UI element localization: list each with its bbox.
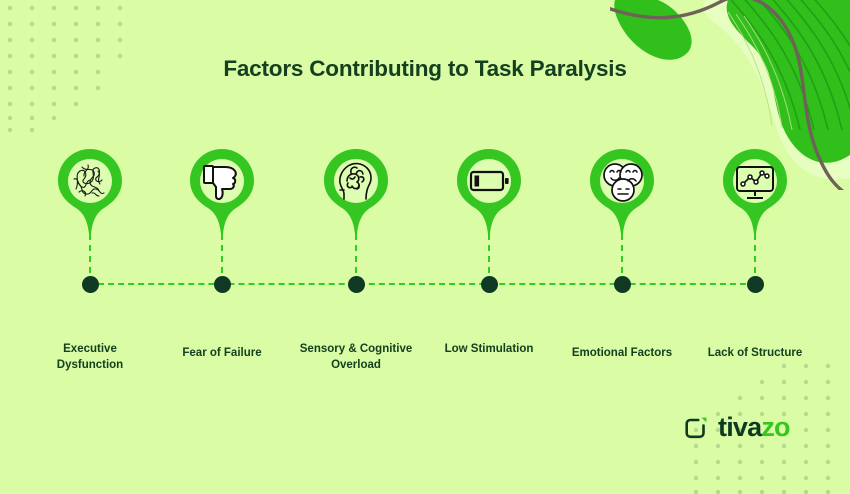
timeline-item-label: Lack of Structure [680,346,830,362]
tangled-scribble-icon [68,159,112,203]
timeline-item-label: Emotional Factors [547,346,697,362]
monitor-chart-icon [733,159,777,203]
map-pin-marker[interactable] [56,148,124,236]
timeline-node-dot[interactable] [214,276,231,293]
timeline-item[interactable]: Sensory & CognitiveOverload [291,0,421,494]
timeline-node-dot[interactable] [481,276,498,293]
logo-text-accent: zo [761,412,789,442]
timeline-item-label-line2: Dysfunction [15,358,165,374]
timeline-node-dot[interactable] [82,276,99,293]
timeline-item[interactable]: Emotional Factors [557,0,687,494]
timeline-item-label-line1: Fear of Failure [147,346,297,362]
logo-wordmark: tivazo [718,414,790,441]
low-battery-icon [467,159,511,203]
map-pin-marker[interactable] [188,148,256,236]
timeline-item[interactable]: Fear of Failure [157,0,287,494]
timeline-node-dot[interactable] [614,276,631,293]
timeline-item-label-line1: Lack of Structure [680,346,830,362]
timeline-item[interactable]: ExecutiveDysfunction [25,0,155,494]
timeline-item-label-line1: Emotional Factors [547,346,697,362]
timeline-item-label-line1: Executive [15,342,165,358]
brand-logo[interactable]: tivazo [683,414,790,441]
head-overload-icon [334,159,378,203]
timeline-item-label: Fear of Failure [147,346,297,362]
timeline-item-label-line1: Low Stimulation [414,342,564,358]
timeline-node-dot[interactable] [348,276,365,293]
timeline-item[interactable]: Low Stimulation [424,0,554,494]
timeline-item-label-line1: Sensory & Cognitive [281,342,431,358]
timeline-item-label-line2: Overload [281,358,431,374]
map-pin-marker[interactable] [455,148,523,236]
timeline-node-dot[interactable] [747,276,764,293]
infographic-canvas: Factors Contributing to Task Paralysis E… [0,0,850,494]
timeline-item-label: Sensory & CognitiveOverload [281,342,431,373]
map-pin-marker[interactable] [322,148,390,236]
map-pin-marker[interactable] [721,148,789,236]
bracket-square-icon [683,415,709,441]
timeline-item-label: Low Stimulation [414,342,564,358]
map-pin-marker[interactable] [588,148,656,236]
logo-text-primary: tiva [718,412,761,442]
emotion-faces-icon [600,159,644,203]
thumbs-down-icon [200,159,244,203]
timeline-item-label: ExecutiveDysfunction [15,342,165,373]
